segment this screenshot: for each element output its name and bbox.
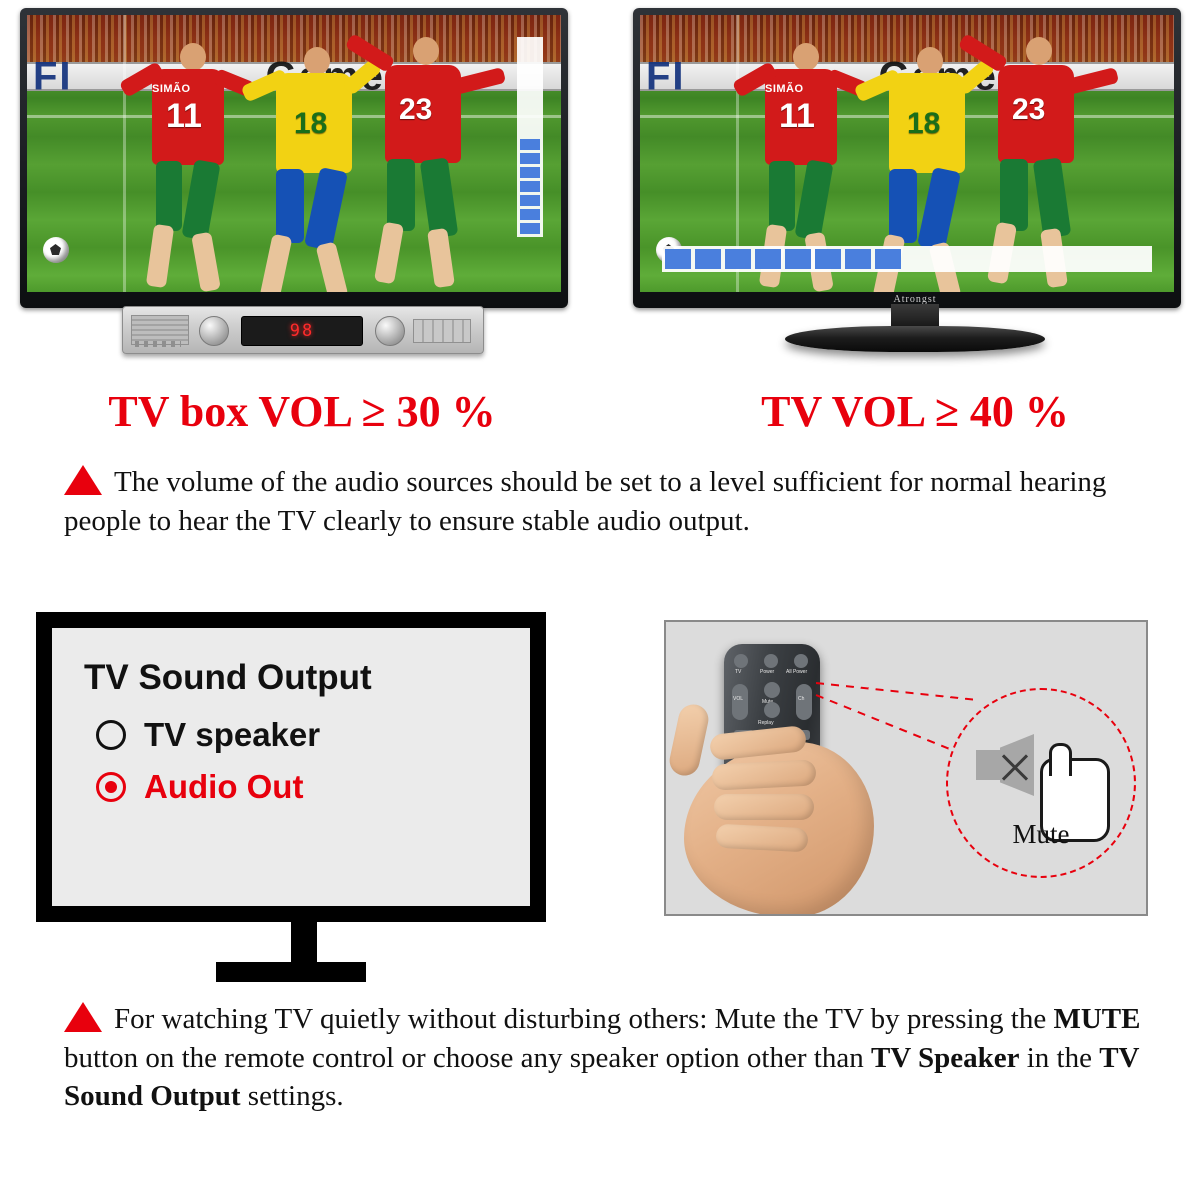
note-mute-bold-tv-speaker: TV Speaker [871, 1042, 1020, 1074]
volume-segment [520, 223, 540, 234]
note-volume-level-text: The volume of the audio sources should b… [64, 466, 1106, 537]
player-2-number: 18 [294, 107, 327, 141]
player-1-number-right: 11 [779, 97, 815, 136]
note-mute-part3: in the [1019, 1042, 1099, 1074]
remote-label-ch: Ch [798, 696, 804, 702]
menu-option-label-tv-speaker: TV speaker [144, 716, 320, 754]
volume-segment [520, 167, 540, 178]
remote-control-panel: TV Power All Power VOL Mute Ch Replay Ex… [664, 620, 1148, 916]
tv-panel-right: FI Game. SIMÃO 11 [625, 8, 1202, 380]
player-1-name: SIMÃO [152, 83, 191, 95]
menu-option-tv-speaker[interactable]: TV speaker [96, 716, 504, 754]
tv-screen-right: FI Game. SIMÃO 11 [640, 15, 1174, 292]
menu-title: TV Sound Output [84, 658, 504, 698]
tv-sound-output-mock: TV Sound Output TV speaker Audio Out [36, 612, 546, 922]
volume-segment [845, 249, 871, 269]
tv-frame-right: FI Game. SIMÃO 11 [633, 8, 1181, 308]
callout-leader-line-2 [816, 694, 970, 758]
remote-button-tv[interactable] [734, 654, 748, 668]
tv-stand-base [785, 326, 1045, 352]
volume-bar-horizontal [662, 246, 1152, 272]
volume-segment [520, 139, 540, 150]
volume-segment [725, 249, 751, 269]
radio-selected-icon[interactable] [96, 772, 126, 802]
volume-segment [520, 153, 540, 164]
menu-option-label-audio-out: Audio Out [144, 768, 303, 806]
volume-segment [665, 249, 691, 269]
stb-knob-left[interactable] [199, 316, 229, 346]
player-3-number-right: 23 [1012, 93, 1045, 127]
player-1: SIMÃO 11 [122, 35, 242, 285]
callout-leader-line-1 [816, 682, 975, 701]
volume-segment [815, 249, 841, 269]
stb-button-row[interactable] [413, 319, 471, 343]
finger-3 [714, 794, 814, 820]
remote-button-vol[interactable] [732, 684, 748, 720]
remote-button-mute[interactable] [764, 682, 780, 698]
stb-display-value: 98 [290, 321, 314, 341]
menu-option-audio-out[interactable]: Audio Out [96, 768, 504, 806]
board-text-1: FI [33, 54, 73, 98]
stb-display: 98 [241, 316, 363, 346]
caption-tv-box-volume: TV box VOL ≥ 30 % [12, 386, 592, 437]
finger-2 [711, 759, 816, 790]
player-1-name-right: SIMÃO [765, 83, 804, 95]
mute-callout-circle: Mute [946, 688, 1136, 878]
volume-segment [520, 195, 540, 206]
player-3-number: 23 [399, 93, 432, 127]
remote-button-all-power[interactable] [794, 654, 808, 668]
remote-label-power: Power [760, 669, 774, 675]
remote-label-all-power: All Power [786, 669, 807, 675]
top-row: FI Game. SIMÃO 11 [0, 0, 1202, 380]
volume-segment [520, 209, 540, 220]
note-volume-level: The volume of the audio sources should b… [64, 463, 1144, 540]
volume-segment [875, 249, 901, 269]
soccer-ball [43, 237, 69, 263]
tv-frame-left: FI Game. SIMÃO 11 [20, 8, 568, 308]
menu-tv-stand-base [216, 962, 366, 982]
remote-button-ch[interactable] [796, 684, 812, 720]
remote-label-vol: VOL [733, 696, 743, 702]
volume-segment [695, 249, 721, 269]
radio-unselected-icon[interactable] [96, 720, 126, 750]
warning-triangle-icon-2 [64, 1002, 102, 1032]
remote-label-tv: TV [735, 669, 741, 675]
volume-bar-vertical [517, 37, 543, 237]
note-mute-part2: button on the remote control or choose a… [64, 1042, 871, 1074]
warning-triangle-icon [64, 465, 102, 495]
thumb [667, 702, 711, 779]
player-2-number-right: 18 [907, 107, 940, 141]
player-3: 23 [357, 27, 497, 287]
tv-screen-left: FI Game. SIMÃO 11 [27, 15, 561, 292]
note-mute-part1: For watching TV quietly without disturbi… [114, 1003, 1053, 1035]
player-1-number: 11 [166, 97, 202, 136]
note-mute-part4: settings. [241, 1080, 344, 1112]
note-mute-bold-mute: MUTE [1053, 1003, 1140, 1035]
remote-button-replay[interactable] [764, 702, 780, 718]
volume-segment [785, 249, 811, 269]
caption-tv-volume: TV VOL ≥ 40 % [625, 386, 1202, 437]
volume-segment [520, 181, 540, 192]
note-mute-instruction: For watching TV quietly without disturbi… [64, 1000, 1144, 1116]
set-top-box: 98 [122, 306, 484, 354]
volume-segment [755, 249, 781, 269]
stb-indicator-dots [135, 341, 181, 347]
stb-knob-right[interactable] [375, 316, 405, 346]
tv-sound-output-screen: TV Sound Output TV speaker Audio Out [52, 628, 530, 906]
board-text-1-right: FI [646, 54, 686, 98]
remote-label-replay: Replay [758, 720, 774, 726]
player-2: 18 [242, 43, 372, 292]
tv-panel-left: FI Game. SIMÃO 11 [12, 8, 592, 380]
finger-4 [715, 824, 808, 853]
remote-button-power[interactable] [764, 654, 778, 668]
mute-label: Mute [948, 819, 1134, 850]
